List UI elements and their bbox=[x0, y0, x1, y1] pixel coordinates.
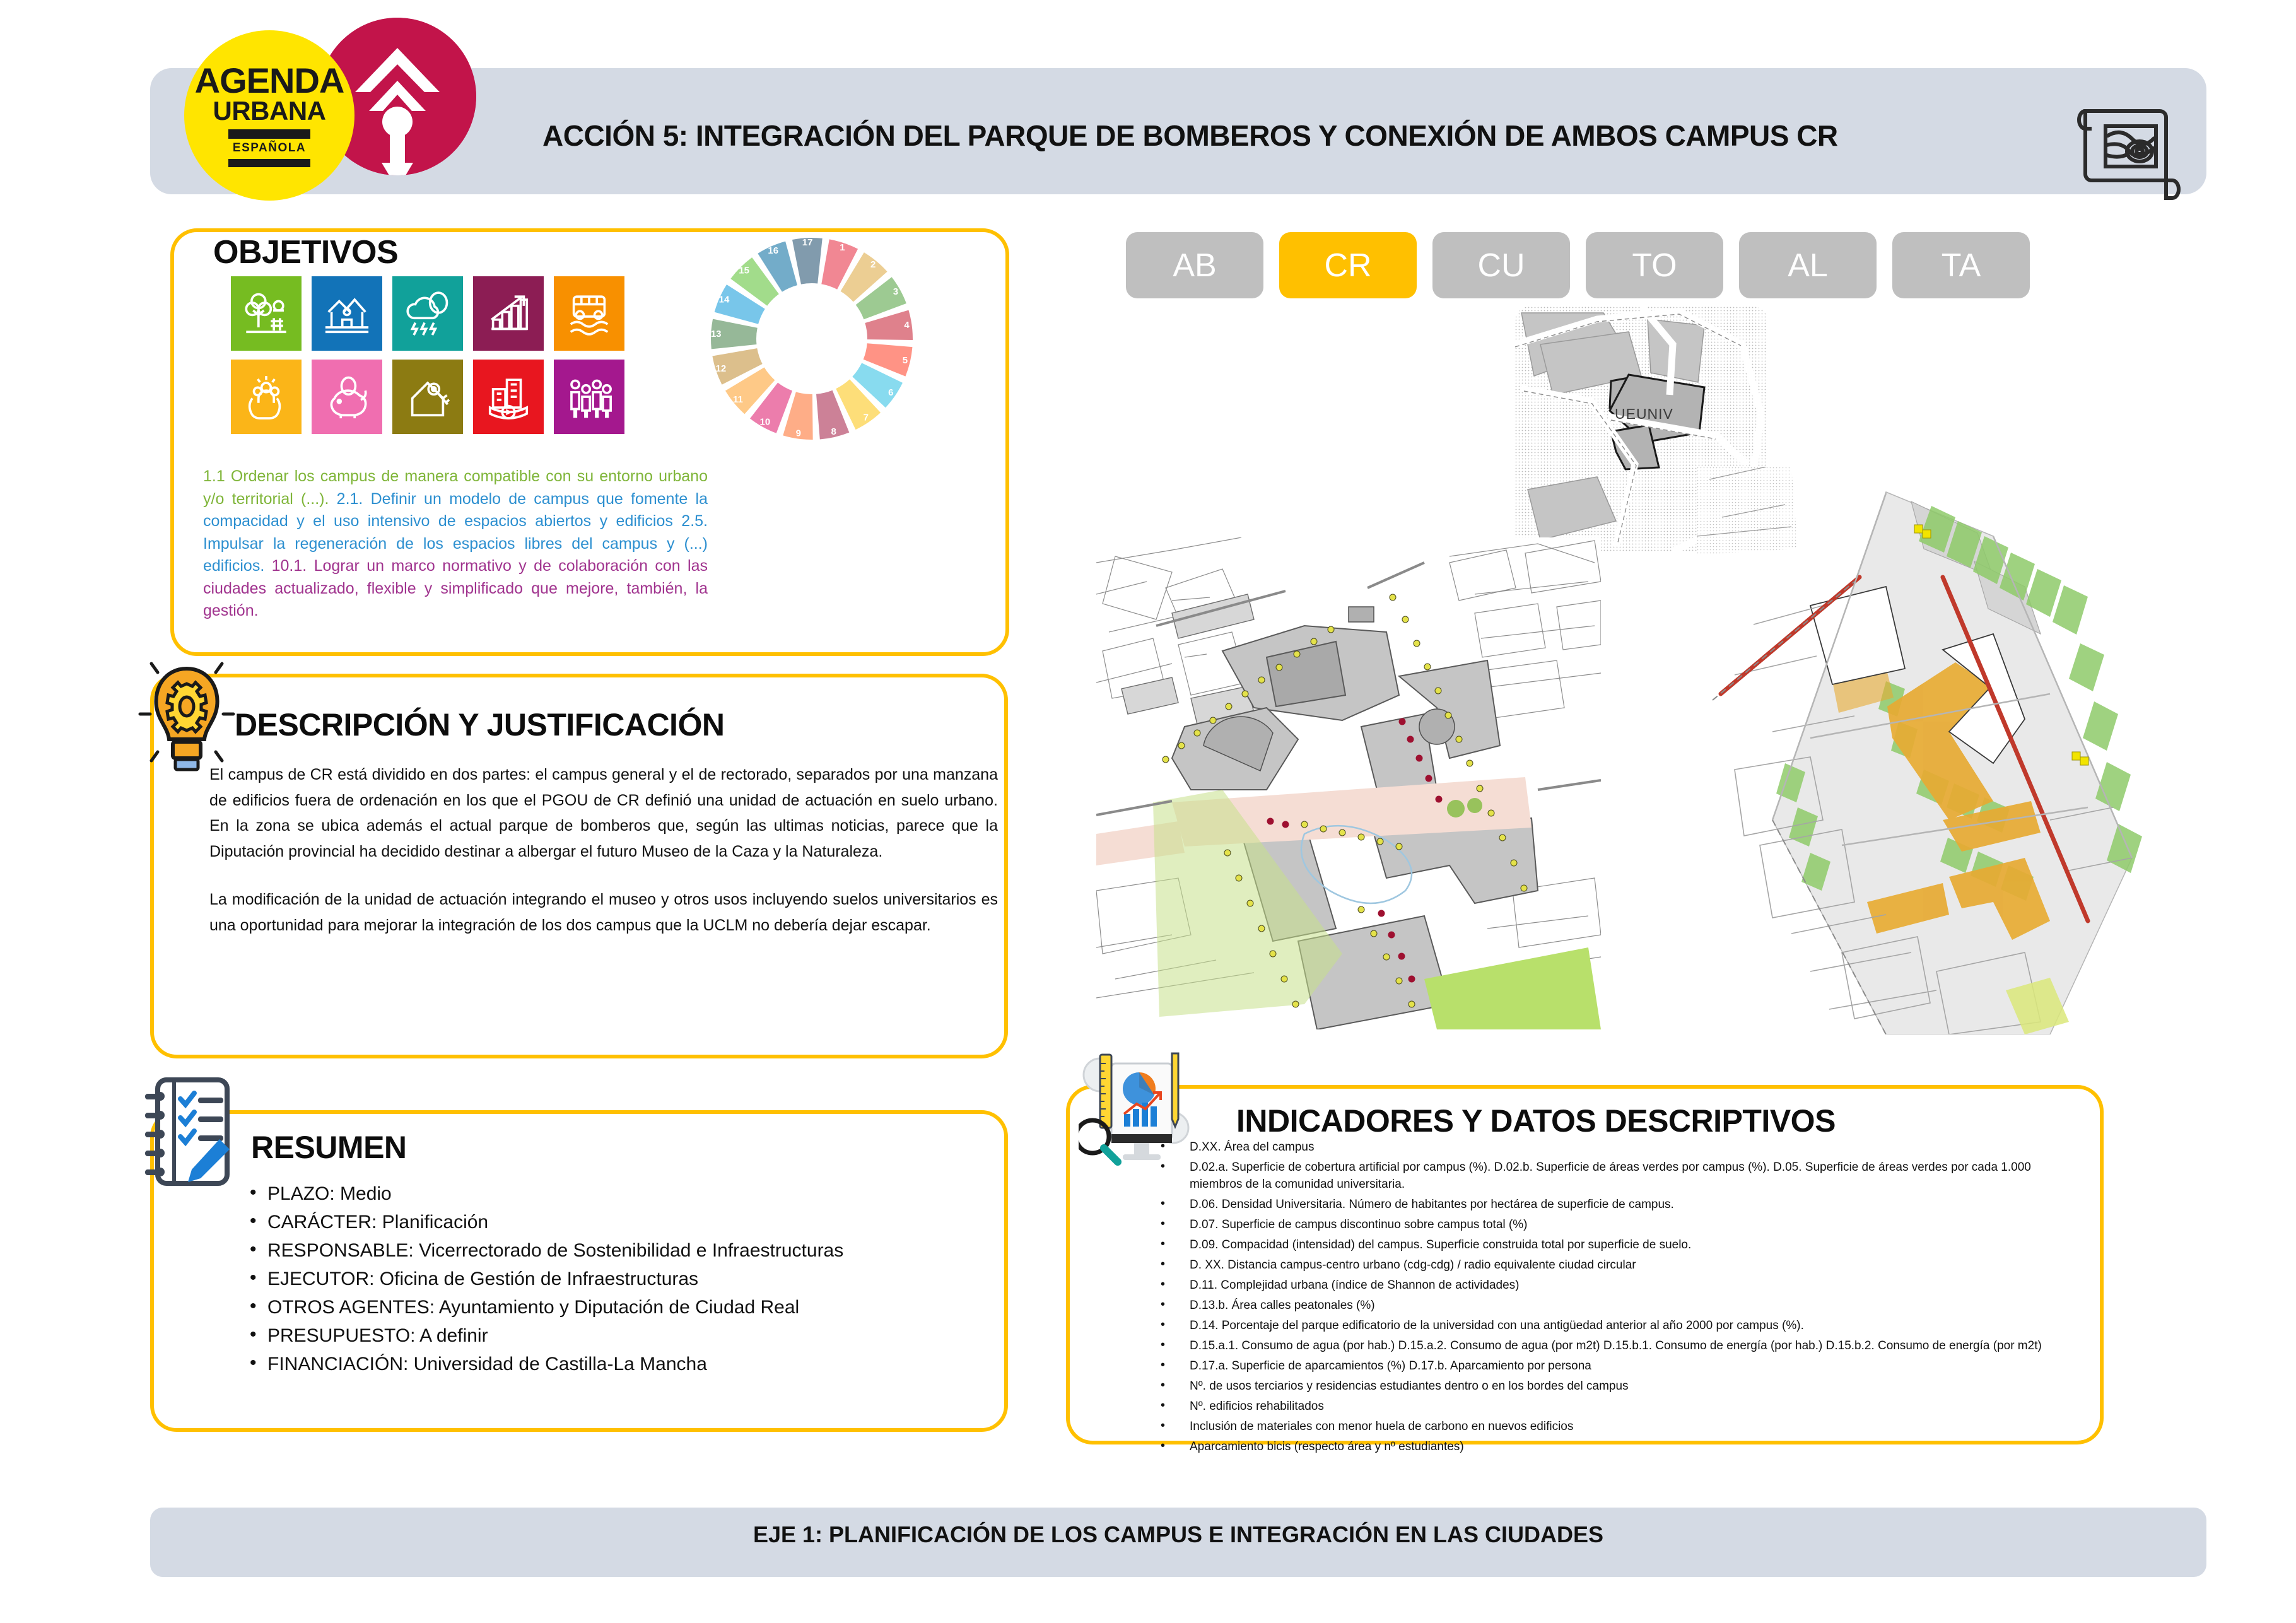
urban-intervention-plan-map bbox=[1697, 467, 2151, 1034]
tab-campus-al[interactable]: AL bbox=[1739, 232, 1877, 298]
growth-chart-icon bbox=[473, 276, 544, 351]
list-item: Nº. edificios rehabilitados bbox=[1154, 1398, 2069, 1415]
campus-site-plan-map bbox=[1096, 537, 1601, 1029]
svg-text:5: 5 bbox=[903, 355, 908, 366]
aue-objectives-icon-grid bbox=[231, 276, 624, 434]
list-item: D.14. Porcentaje del parque edificatorio… bbox=[1154, 1318, 2069, 1335]
tab-campus-ab[interactable]: AB bbox=[1126, 232, 1263, 298]
svg-text:10: 10 bbox=[760, 417, 771, 428]
list-item: PLAZO: Medio bbox=[246, 1180, 978, 1208]
list-item: PRESUPUESTO: A definir bbox=[246, 1321, 978, 1350]
svg-text:9: 9 bbox=[796, 428, 801, 439]
list-item: FINANCIACIÓN: Universidad de Castilla-La… bbox=[246, 1350, 978, 1378]
piggy-bank-icon bbox=[312, 360, 382, 434]
agenda-urbana-logo: AGENDA URBANA ESPAÑOLA bbox=[184, 30, 354, 201]
svg-text:2: 2 bbox=[870, 259, 876, 270]
houses-icon bbox=[312, 276, 382, 351]
hands-people-icon bbox=[231, 360, 302, 434]
tab-campus-cu[interactable]: CU bbox=[1432, 232, 1570, 298]
logo-line-agenda: AGENDA bbox=[195, 64, 344, 97]
logo-line-espanola: ESPAÑOLA bbox=[233, 141, 306, 155]
list-item: D.07. Superficie de campus discontinuo s… bbox=[1154, 1217, 2069, 1234]
indicadores-title: INDICADORES Y DATOS DESCRIPTIVOS bbox=[1236, 1103, 1836, 1139]
bus-icon bbox=[554, 276, 624, 351]
notebook-checklist-pencil-icon bbox=[139, 1069, 246, 1195]
descripcion-title: DESCRIPCIÓN Y JUSTIFICACIÓN bbox=[235, 706, 724, 743]
resumen-title: RESUMEN bbox=[251, 1129, 407, 1166]
page-title: ACCIÓN 5: INTEGRACIÓN DEL PARQUE DE BOMB… bbox=[542, 117, 2056, 155]
list-item: D.09. Compacidad (intensidad) del campus… bbox=[1154, 1237, 2069, 1254]
objetivo-segment-3: 10.1. Lograr un marco normativo y de col… bbox=[203, 557, 708, 619]
logo-bar-bottom bbox=[228, 159, 310, 167]
list-item: D. XX. Distancia campus-centro urbano (c… bbox=[1154, 1257, 2069, 1274]
descripcion-paragraph-2: La modificación de la unidad de actuació… bbox=[209, 887, 998, 938]
blueprint-plan-icon bbox=[2070, 101, 2184, 202]
house-key-icon bbox=[392, 360, 463, 434]
footer-title: EJE 1: PLANIFICACIÓN DE LOS CAMPUS E INT… bbox=[150, 1521, 2206, 1548]
svg-text:12: 12 bbox=[715, 363, 726, 374]
svg-text:17: 17 bbox=[802, 237, 813, 248]
list-item: D.XX. Área del campus bbox=[1154, 1139, 2069, 1156]
campus-tabs: AB CR CU TO AL TA bbox=[1126, 232, 2030, 298]
list-item: D.15.a.1. Consumo de agua (por hab.) D.1… bbox=[1154, 1338, 2069, 1355]
list-item: D.13.b. Área calles peatonales (%) bbox=[1154, 1298, 2069, 1315]
tab-campus-cr[interactable]: CR bbox=[1279, 232, 1417, 298]
sdg-wheel-icon: 1234567891011121314151617 bbox=[708, 235, 916, 443]
svg-text:3: 3 bbox=[893, 286, 898, 297]
svg-text:14: 14 bbox=[719, 294, 730, 305]
objetivos-title: OBJETIVOS bbox=[213, 233, 398, 271]
buildings-play-icon bbox=[473, 360, 544, 434]
svg-text:7: 7 bbox=[864, 412, 869, 423]
list-item: Inclusión de materiales con menor huela … bbox=[1154, 1419, 2069, 1436]
storm-cloud-icon bbox=[392, 276, 463, 351]
list-item: D.11. Complejidad urbana (índice de Shan… bbox=[1154, 1277, 2069, 1294]
tab-campus-to[interactable]: TO bbox=[1586, 232, 1723, 298]
svg-text:15: 15 bbox=[739, 265, 749, 276]
list-item: CARÁCTER: Planificación bbox=[246, 1208, 978, 1236]
svg-text:16: 16 bbox=[768, 245, 778, 256]
plan-label: UEUNIV bbox=[1615, 406, 1673, 422]
logo-line-urbana: URBANA bbox=[213, 97, 326, 125]
objetivos-text: 1.1 Ordenar los campus de manera compati… bbox=[203, 466, 708, 623]
svg-text:13: 13 bbox=[711, 329, 722, 339]
svg-text:4: 4 bbox=[904, 320, 910, 331]
resumen-list: PLAZO: Medio CARÁCTER: Planificación RES… bbox=[246, 1180, 978, 1378]
people-group-icon bbox=[554, 360, 624, 434]
list-item: Aparcamiento bicis (respecto área y nº e… bbox=[1154, 1439, 2069, 1456]
svg-text:8: 8 bbox=[831, 426, 836, 437]
descripcion-body: El campus de CR está dividido en dos par… bbox=[209, 762, 998, 938]
list-item: OTROS AGENTES: Ayuntamiento y Diputación… bbox=[246, 1293, 978, 1321]
svg-text:1: 1 bbox=[840, 242, 845, 253]
lightbulb-gear-icon bbox=[136, 653, 237, 780]
list-item: EJECUTOR: Oficina de Gestión de Infraest… bbox=[246, 1265, 978, 1293]
list-item: RESPONSABLE: Vicerrectorado de Sostenibi… bbox=[246, 1236, 978, 1265]
tab-campus-ta[interactable]: TA bbox=[1892, 232, 2030, 298]
list-item: Nº. de usos terciarios y residencias est… bbox=[1154, 1378, 2069, 1395]
svg-text:11: 11 bbox=[733, 394, 743, 405]
descripcion-paragraph-1: El campus de CR está dividido en dos par… bbox=[209, 762, 998, 864]
list-item: D.06. Densidad Universitaria. Número de … bbox=[1154, 1197, 2069, 1214]
list-item: D.02.a. Superficie de cobertura artifici… bbox=[1154, 1159, 2069, 1193]
park-trees-icon bbox=[231, 276, 302, 351]
list-item: D.17.a. Superficie de aparcamientos (%) … bbox=[1154, 1358, 2069, 1375]
svg-text:6: 6 bbox=[888, 387, 893, 398]
indicadores-list: D.XX. Área del campus D.02.a. Superficie… bbox=[1154, 1139, 2069, 1459]
logo-bar-top bbox=[228, 129, 310, 139]
